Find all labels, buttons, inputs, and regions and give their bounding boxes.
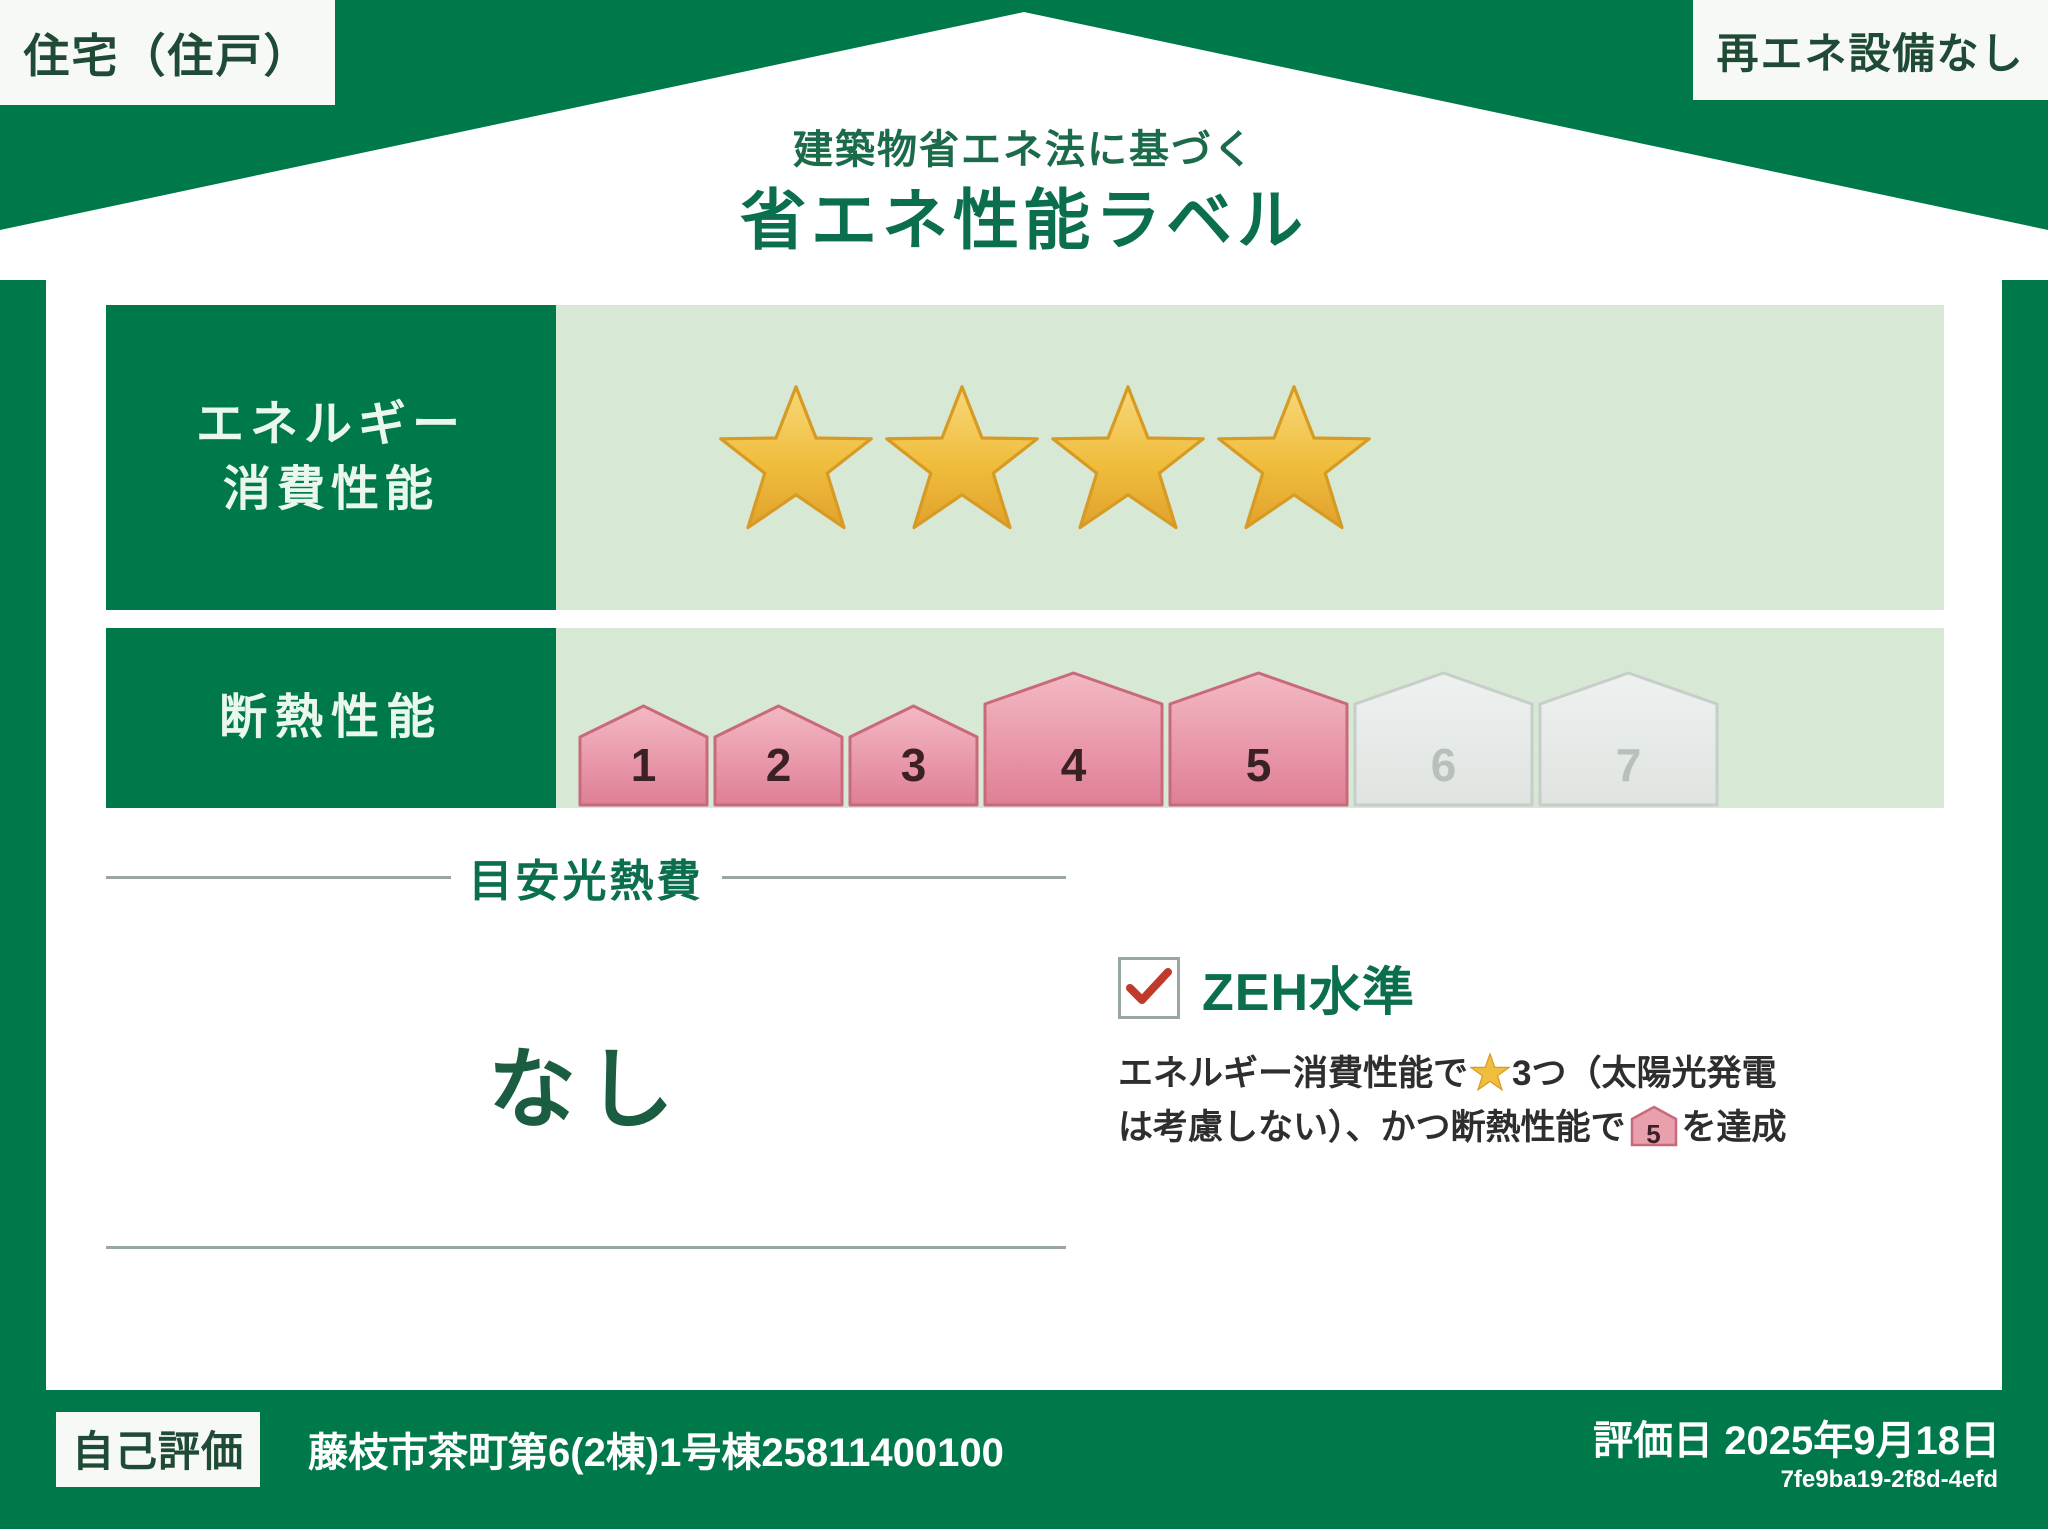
insulation-performance-label: 断熱性能 [106,628,556,808]
house-icon [1351,670,1536,808]
energy-performance-label: エネルギー 消費性能 [106,305,556,610]
zeh-checkbox[interactable] [1118,957,1180,1019]
energy-star-rating [556,305,1944,610]
energy-performance-label: 住宅（住戸） 再エネ設備なし 建築物省エネ法に基づく 省エネ性能ラベル エネルギ… [0,0,2048,1529]
heading-rule-left [106,876,451,879]
house-icon [981,670,1166,808]
zeh-standard-block: ZEH水準 エネルギー消費性能で3つ（太陽光発電は考慮しない）、かつ断熱性能で5… [1118,950,1958,1156]
utility-cost-value: なし [106,1019,1066,1146]
star-icon [1214,378,1374,538]
house-icon [711,703,846,808]
zeh-header-row: ZEH水準 [1118,950,1958,1025]
zeh-title: ZEH水準 [1202,950,1415,1025]
inline-grade-value: 5 [1630,1114,1678,1154]
utility-cost-heading: 目安光熱費 [469,845,704,909]
star-icon [1048,378,1208,538]
check-icon [1126,968,1172,1008]
evaluation-type-badge: 自己評価 [56,1412,260,1487]
zeh-desc-part2: は考慮しない）、かつ断熱性能で [1118,1108,1626,1147]
utility-cost-bottom-rule [106,1246,1066,1249]
insulation-grade-chip: 5 [1166,670,1351,808]
property-address: 藤枝市茶町第6(2棟)1号棟25811400100 [308,1420,1004,1478]
house-icon [576,703,711,808]
inline-grade-chip: 5 [1630,1105,1678,1147]
insulation-grade-scale: 1234567 [556,628,1944,808]
insulation-grade-chip: 6 [1351,670,1536,808]
zeh-desc-part1: エネルギー消費性能で [1118,1054,1468,1093]
star-icon [882,378,1042,538]
header: 建築物省エネ法に基づく 省エネ性能ラベル [0,128,2048,257]
insulation-grade-chip: 3 [846,703,981,808]
energy-performance-row: エネルギー 消費性能 [106,305,1944,610]
house-icon [1536,670,1721,808]
insulation-grade-chip: 7 [1536,670,1721,808]
document-id: 7fe9ba19-2f8d-4efd [1781,1466,1998,1494]
star-icon [716,378,876,538]
utility-cost-heading-row: 目安光熱費 [106,845,1066,909]
zeh-description: エネルギー消費性能で3つ（太陽光発電は考慮しない）、かつ断熱性能で5を達成 [1118,1047,1958,1156]
insulation-grade-chip: 2 [711,703,846,808]
badge-building-type: 住宅（住戸） [0,0,335,105]
utility-cost-section: 目安光熱費 なし [106,845,1066,1146]
badge-renewable-equipment: 再エネ設備なし [1693,0,2048,100]
house-icon [1166,670,1351,808]
energy-label-line2: 消費性能 [223,458,439,523]
evaluation-date: 評価日 2025年9月18日 [1593,1408,2000,1466]
heading-rule-right [722,876,1067,879]
energy-label-line1: エネルギー [196,393,466,458]
zeh-desc-part3: を達成 [1682,1108,1787,1147]
house-icon [846,703,981,808]
header-subtitle: 建築物省エネ法に基づく [0,128,2048,172]
insulation-grade-chip: 4 [981,670,1166,808]
page-title: 省エネ性能ラベル [0,184,2048,257]
footer: 自己評価 藤枝市茶町第6(2棟)1号棟25811400100 評価日 2025年… [0,1390,2048,1529]
insulation-performance-row: 断熱性能 1234567 [106,628,1944,808]
zeh-desc-star-count: 3つ（太陽光発電 [1512,1054,1776,1093]
insulation-label-text: 断熱性能 [219,686,443,751]
inline-star-icon [1470,1053,1510,1091]
insulation-grade-chip: 1 [576,703,711,808]
